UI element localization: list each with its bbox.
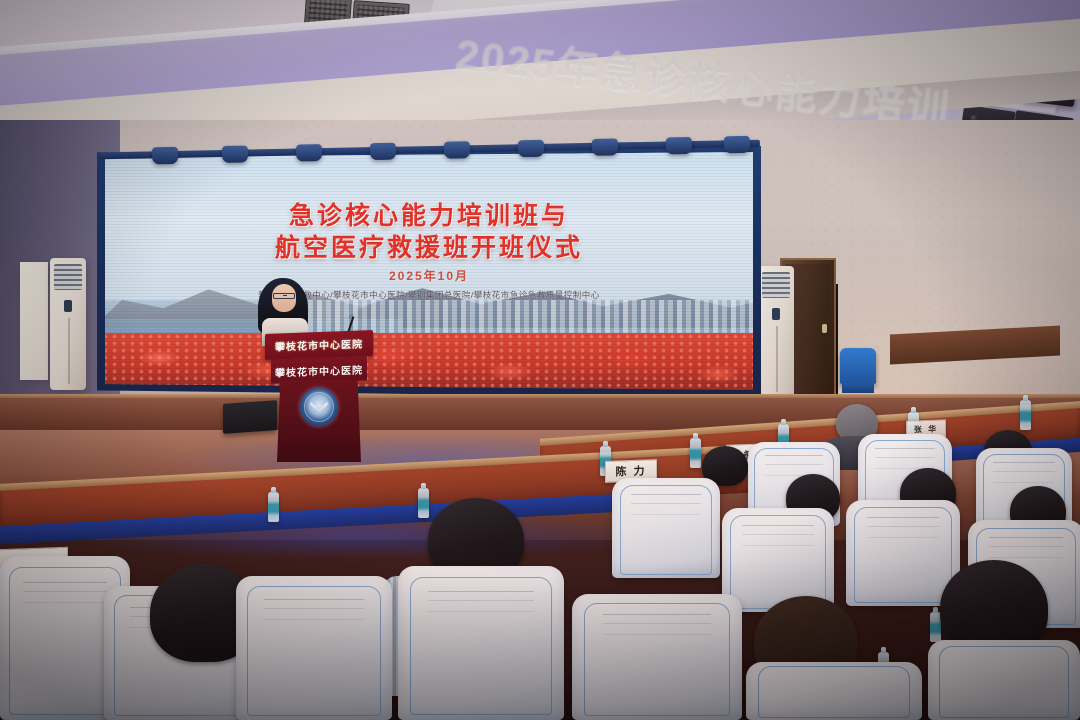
stage-lamp (724, 136, 750, 153)
screen-bougainvillea (105, 333, 753, 390)
hospital-emblem-icon (300, 388, 338, 426)
eyeglasses-icon (273, 293, 295, 299)
conference-photo-scene: 2025年急诊核心能力培训 急诊核心能力培训班与 航空医疗救援班开班仪式 202 (0, 0, 1080, 720)
door-handle[interactable] (822, 324, 827, 333)
water-bottle[interactable] (268, 492, 279, 522)
podium-sign-top-label: 攀枝花市中心医院 (265, 335, 373, 354)
water-bottle[interactable] (418, 488, 429, 518)
blue-plastic-chair[interactable] (840, 348, 876, 384)
podium-sign-top: 攀枝花市中心医院 (265, 330, 373, 360)
podium-sign-bottom-label: 攀枝花市中心医院 (271, 361, 367, 379)
auditorium-seat[interactable] (398, 566, 564, 720)
stage-lamp (152, 147, 178, 164)
stage-lamp (592, 138, 618, 155)
ac-display (64, 300, 72, 312)
ac-seam (776, 326, 778, 392)
screen-organizers: 攀枝花市急救中心/攀枝花市中心医院/攀钢集团总医院/攀枝花市急诊急救质量控制中心 (105, 289, 753, 301)
stage-lamp (222, 145, 248, 162)
seat-fold (631, 494, 700, 495)
stage-lamp (370, 143, 396, 160)
laptop (223, 400, 277, 434)
seat-piping (758, 666, 909, 718)
water-bottle[interactable] (690, 438, 701, 468)
seat-piping (620, 485, 713, 575)
led-screen: 急诊核心能力培训班与 航空医疗救援班开班仪式 2025年10月 攀枝花市急救中心… (105, 152, 753, 390)
seat-piping (410, 577, 553, 716)
seat-fold (428, 591, 534, 592)
auditorium-seat[interactable] (746, 662, 922, 720)
ac-display (772, 308, 780, 320)
screen-title-block: 急诊核心能力培训班与 航空医疗救援班开班仪式 (105, 200, 753, 264)
seat-piping (247, 586, 381, 716)
stage-lamp (444, 141, 470, 158)
stage-lamp (518, 140, 544, 157)
podium: 攀枝花市中心医院 攀枝花市中心医院 (265, 332, 373, 462)
seat-fold (742, 525, 814, 526)
auditorium-seat[interactable] (612, 478, 720, 578)
seat-fold (875, 448, 935, 449)
seat-piping (854, 507, 952, 602)
seat-piping (939, 646, 1070, 718)
screen-title-line1: 急诊核心能力培训班与 (105, 200, 753, 232)
air-conditioner-right[interactable] (758, 266, 794, 398)
seat-piping (730, 515, 826, 609)
air-conditioner-left[interactable] (50, 258, 86, 390)
stage-lamp (666, 137, 692, 154)
seat-fold (603, 614, 712, 615)
water-bottle[interactable] (1020, 400, 1031, 430)
ac-vent (54, 264, 82, 290)
stage-lamp (296, 144, 322, 161)
screen-title-line2: 航空医疗救援班开班仪式 (105, 232, 753, 264)
seat-piping (584, 603, 730, 716)
seat-fold (993, 462, 1054, 463)
ac-vent (762, 272, 790, 298)
seat-fold (989, 537, 1063, 538)
seat-fold (867, 517, 940, 518)
ac-seam (68, 318, 70, 384)
screen-date: 2025年10月 (105, 267, 753, 284)
auditorium-seat[interactable] (928, 640, 1080, 720)
seat-fold (765, 455, 824, 456)
seat-fold (264, 599, 364, 600)
seat-fold (23, 582, 106, 583)
wall-panel (20, 262, 48, 380)
podium-sign-bottom: 攀枝花市中心医院 (271, 356, 367, 383)
auditorium-seat[interactable] (572, 594, 742, 720)
auditorium-seat[interactable] (236, 576, 392, 720)
